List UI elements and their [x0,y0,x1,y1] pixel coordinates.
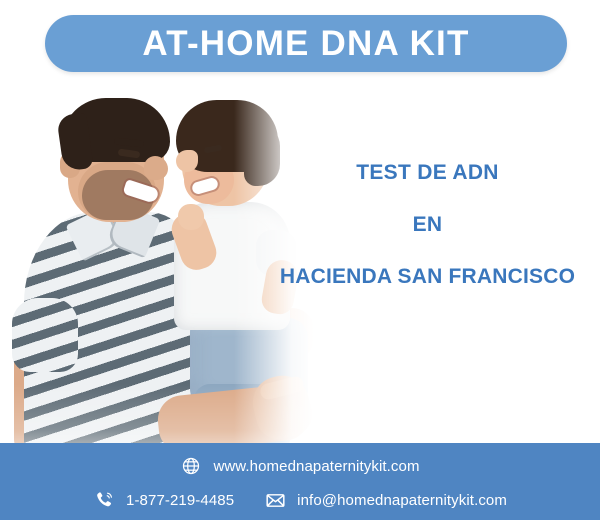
headline-line-2: EN [255,212,600,238]
headline-block: TEST DE ADN EN HACIENDA SAN FRANCISCO [255,160,600,290]
envelope-icon [264,489,286,511]
man-nose [144,156,168,180]
photo-bottom-fade [8,384,314,450]
footer-contact-bar: www.homednapaternitykit.com 1-877-219-44… [0,443,600,520]
header-title: AT-HOME DNA KIT [45,15,567,72]
footer-phone-text: 1-877-219-4485 [126,492,234,509]
man-shirt-sleeve [12,298,78,372]
phone-icon [93,489,115,511]
footer-phone-email-row: 1-877-219-4485 info@homednapaternitykit.… [0,483,600,517]
globe-icon [180,455,202,477]
footer-email-text: info@homednapaternitykit.com [297,492,507,509]
headline-line-1: TEST DE ADN [255,160,600,186]
child-hand [178,204,204,230]
headline-line-3: HACIENDA SAN FRANCISCO [255,264,600,290]
child-nose [176,150,198,172]
promo-banner-canvas: AT-HOME DNA KIT [0,0,600,520]
footer-email-item[interactable]: info@homednapaternitykit.com [264,489,507,511]
footer-website-item[interactable]: www.homednapaternitykit.com [180,455,419,477]
footer-website-text: www.homednapaternitykit.com [213,458,419,475]
header-banner-pill: AT-HOME DNA KIT [45,15,567,72]
footer-phone-item[interactable]: 1-877-219-4485 [93,489,234,511]
footer-website-row: www.homednapaternitykit.com [0,443,600,483]
